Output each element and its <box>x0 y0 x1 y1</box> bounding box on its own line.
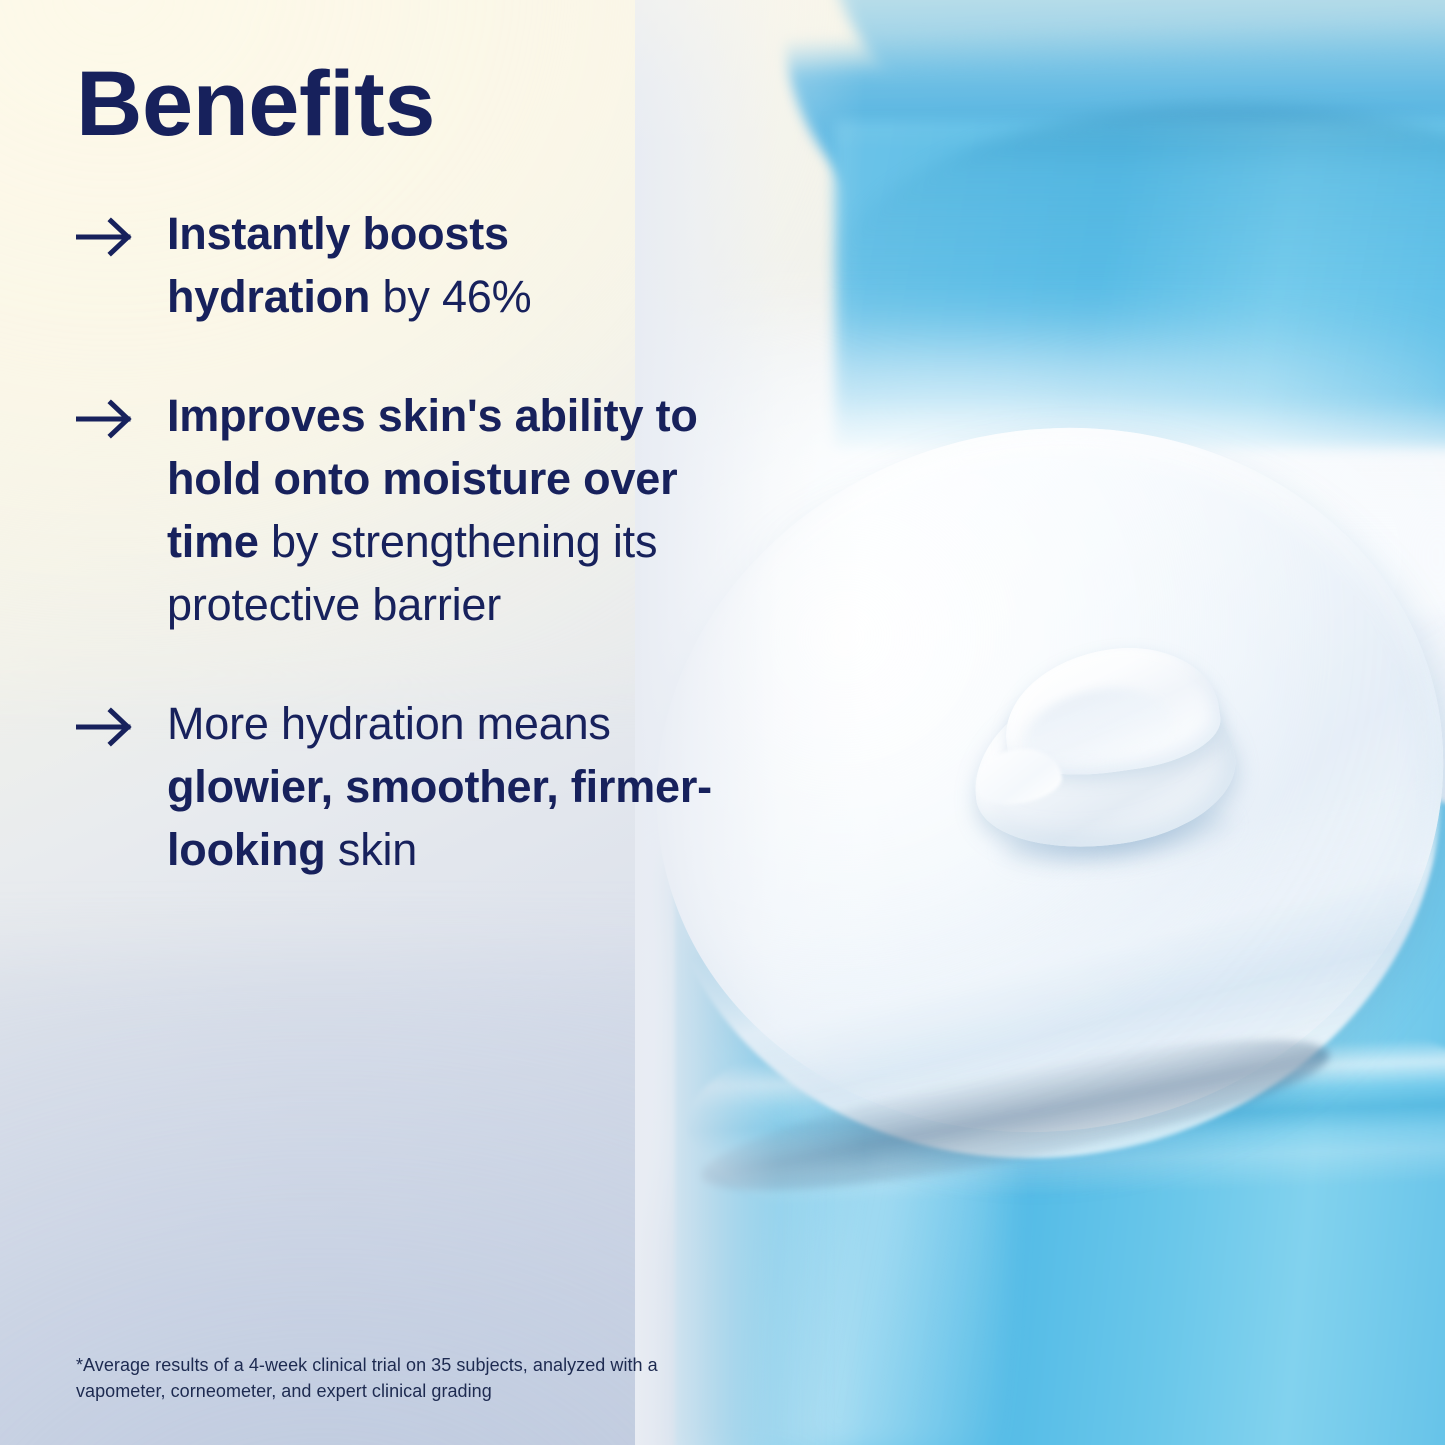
arrow-right-icon <box>76 216 136 258</box>
product-photo <box>635 0 1445 1445</box>
benefit-regular-text: skin <box>326 824 418 875</box>
product-benefits-graphic: Benefits Instantly boosts hydration by 4… <box>0 0 1445 1445</box>
benefit-text: Instantly boosts hydration by 46% <box>167 202 712 328</box>
arrow-right-icon <box>76 398 136 440</box>
benefit-regular-text: by 46% <box>370 271 531 322</box>
arrow-right-icon <box>76 706 136 748</box>
benefit-item: More hydration means glowier, smoother, … <box>72 692 712 881</box>
benefit-text: Improves skin's ability to hold onto moi… <box>167 384 712 636</box>
benefit-item: Instantly boosts hydration by 46% <box>72 202 712 328</box>
footnote-disclaimer: *Average results of a 4-week clinical tr… <box>76 1352 726 1404</box>
benefits-list: Instantly boosts hydration by 46% Improv… <box>72 202 712 881</box>
benefit-item: Improves skin's ability to hold onto moi… <box>72 384 712 636</box>
benefit-lead-text: More hydration means <box>167 698 611 749</box>
cream-dollop <box>951 627 1258 879</box>
benefit-bold-text: glowier, smoother, firmer-looking <box>167 761 712 875</box>
text-content-column: Benefits Instantly boosts hydration by 4… <box>0 0 720 1445</box>
page-title: Benefits <box>76 58 435 150</box>
benefit-text: More hydration means glowier, smoother, … <box>167 692 712 881</box>
